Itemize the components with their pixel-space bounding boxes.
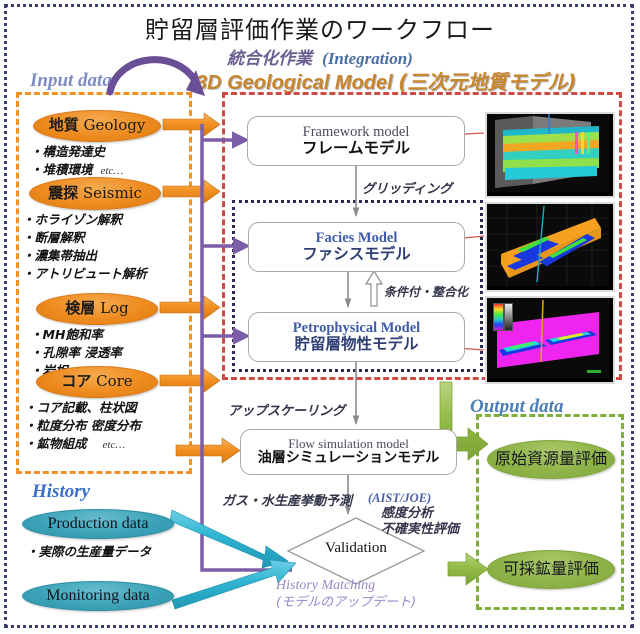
core-label-en: Core xyxy=(96,372,133,390)
list-item: ・堆積環境 xyxy=(30,162,93,177)
caption-gas-water-production: ガス・水生産挙動予測 xyxy=(222,490,352,509)
geology-label-en: Geology xyxy=(84,116,146,134)
history-matching-jp: (モデルのアップデート) xyxy=(276,595,416,611)
core-label-jp: コア xyxy=(61,372,91,390)
list-item: ・アトリビュート解析 xyxy=(22,265,147,283)
list-item: ・実際の生産量データ xyxy=(26,543,151,561)
etc-label: etc… xyxy=(101,165,124,177)
facies-model-3d-render xyxy=(487,204,609,286)
workflow-diagram: 貯留層評価作業のワークフロー 統合化作業(Integration) 3D Geo… xyxy=(0,0,640,634)
list-item: ・構造発達史 xyxy=(30,143,123,161)
production-data-label: Production data xyxy=(48,516,149,533)
caption-aist-joe: (AIST/JOE) xyxy=(368,491,431,506)
facies-model-jp: ファシスモデル xyxy=(302,246,411,263)
input-oval-log[interactable]: 検層 Log xyxy=(36,293,158,325)
geology-label-jp: 地質 xyxy=(49,116,79,134)
caption-history-matching: History Matching (モデルのアップデート) xyxy=(276,578,416,610)
framework-model-jp: フレームモデル xyxy=(302,140,410,157)
list-item: ・MH飽和率 xyxy=(30,326,124,344)
color-scale-bar xyxy=(493,303,504,331)
history-oval-monitoring-data[interactable]: Monitoring data xyxy=(22,581,174,611)
petrophysical-model-thumbnail[interactable] xyxy=(485,296,615,384)
caption-upscaling: アップスケーリング xyxy=(228,400,345,419)
core-bullet-list: ・コア記載、柱状図 ・粒度分布 密度分布 ・鉱物組成etc… xyxy=(24,399,141,454)
history-matching-en: History Matching xyxy=(276,578,416,595)
list-item: ・濃集帯抽出 xyxy=(22,247,147,265)
model-box-flow-simulation[interactable]: Flow simulation model 油層シミュレーションモデル xyxy=(240,429,457,475)
original-reserves-label: 原始資源量評価 xyxy=(495,451,607,468)
caption-gridding: グリッディング xyxy=(362,178,452,197)
facies-model-en: Facies Model xyxy=(316,230,398,246)
petrophysical-model-en: Petrophysical Model xyxy=(293,320,420,336)
input-oval-seismic[interactable]: 震探 Seismic xyxy=(29,177,161,210)
etc-label: etc… xyxy=(103,439,126,451)
seismic-label-en: Seismic xyxy=(83,184,142,202)
list-item: ・ホライゾン解釈 xyxy=(22,211,147,229)
production-bullet-list: ・実際の生産量データ xyxy=(26,543,151,561)
framework-model-en: Framework model xyxy=(303,124,410,140)
recoverable-reserves-label: 可採鉱量評価 xyxy=(503,561,599,578)
list-item: ・断層解釈 xyxy=(22,229,147,247)
history-oval-production-data[interactable]: Production data xyxy=(22,509,174,539)
monitoring-data-label: Monitoring data xyxy=(46,588,150,605)
model-box-petrophysical[interactable]: Petrophysical Model 貯留層物性モデル xyxy=(248,312,465,362)
list-item: ・粒度分布 密度分布 xyxy=(24,417,141,435)
validation-label: Validation xyxy=(288,540,424,557)
log-label-en: Log xyxy=(100,299,129,317)
framework-model-thumbnail[interactable] xyxy=(485,112,615,198)
validation-node[interactable]: Validation xyxy=(288,518,424,584)
model-box-facies[interactable]: Facies Model ファシスモデル xyxy=(248,222,465,272)
input-oval-core[interactable]: コア Core xyxy=(36,366,158,398)
caption-conditioning: 条件付・整合化 xyxy=(384,283,468,300)
facies-model-thumbnail[interactable] xyxy=(485,202,615,292)
petrophysical-model-jp: 貯留層物性モデル xyxy=(294,336,418,353)
log-label-jp: 検層 xyxy=(65,299,95,317)
list-item: ・鉱物組成 xyxy=(24,436,87,451)
model-box-framework[interactable]: Framework model フレームモデル xyxy=(247,116,465,166)
output-oval-recoverable-reserves[interactable]: 可採鉱量評価 xyxy=(487,550,615,589)
seismic-bullet-list: ・ホライゾン解釈 ・断層解釈 ・濃集帯抽出 ・アトリビュート解析 xyxy=(22,211,147,283)
list-item: ・コア記載、柱状図 xyxy=(24,399,141,417)
output-oval-original-reserves[interactable]: 原始資源量評価 xyxy=(487,440,615,479)
geology-bullet-list: ・構造発達史 ・堆積環境etc… xyxy=(30,143,123,180)
list-item: ・孔隙率 浸透率 xyxy=(30,344,124,362)
flow-model-jp: 油層シミュレーションモデル xyxy=(258,451,439,467)
color-scale-bar-secondary xyxy=(504,303,513,331)
input-oval-geology[interactable]: 地質 Geology xyxy=(33,110,161,142)
seismic-label-jp: 震探 xyxy=(48,184,78,202)
framework-model-3d-render xyxy=(487,114,609,192)
